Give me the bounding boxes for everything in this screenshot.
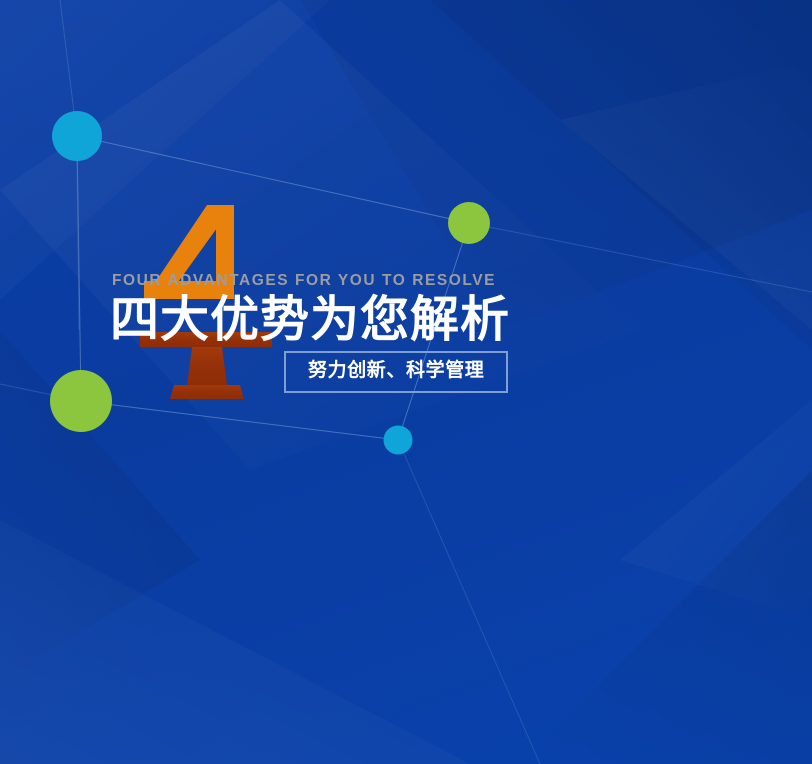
page-title: 四大优势为您解析 [110,291,510,350]
edge-left [77,136,81,401]
hero-eyebrow: FOUR ADVANTAGES FOR YOU TO RESOLVE [112,273,496,289]
node-top-left [52,111,102,161]
node-bottom-right [384,426,413,455]
edge-left-tail [0,384,81,401]
slogan-button[interactable]: 努力创新、科学管理 [284,351,508,393]
edge-top-tail [60,0,77,136]
edge-bottom-tail [398,440,540,764]
hero-content: FOUR ADVANTAGES FOR YOU TO RESOLVE 四大优势为… [112,205,672,420]
edge-node1-down [77,161,79,330]
node-bottom-left [50,370,112,432]
promo-banner: FOUR ADVANTAGES FOR YOU TO RESOLVE 四大优势为… [0,0,812,764]
